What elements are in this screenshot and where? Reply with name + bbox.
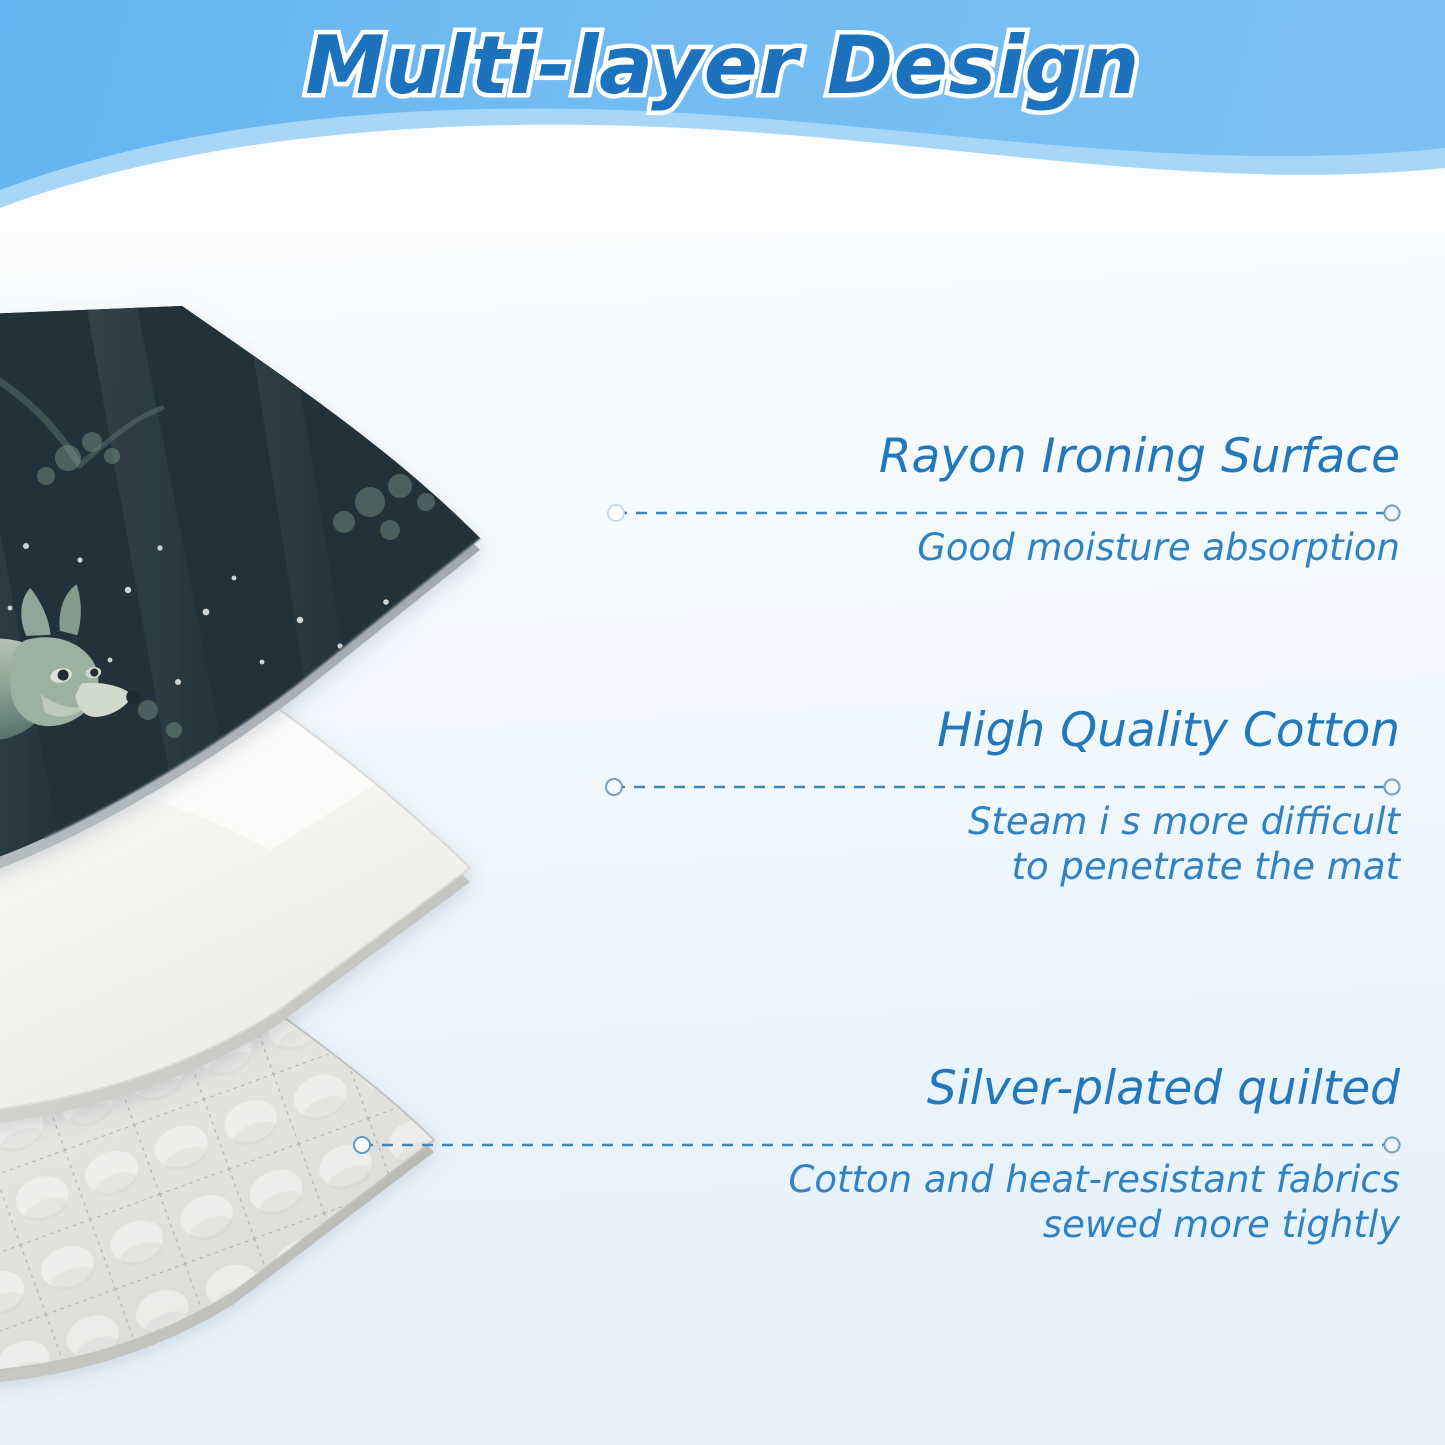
callout-1-subtitle-line-1: Good moisture absorption: [700, 525, 1400, 570]
product-layer-stack: [0, 290, 790, 1360]
callout-high-quality-cotton: High Quality Cotton Steam i s more diffi…: [700, 706, 1400, 890]
callout-2-heading: High Quality Cotton: [700, 706, 1400, 755]
infographic-page: Multi-layer Design: [0, 0, 1445, 1445]
header-wave-decoration: [0, 82, 1445, 232]
callout-3-subtitle-line-1: Cotton and heat-resistant fabrics: [686, 1157, 1400, 1202]
callout-2-subtitle-line-2: to penetrate the mat: [700, 844, 1400, 889]
callout-rayon-ironing-surface: Rayon Ironing Surface Good moisture abso…: [700, 432, 1400, 570]
callout-3-heading: Silver-plated quilted: [686, 1064, 1400, 1113]
header-banner: Multi-layer Design: [0, 0, 1445, 232]
callout-silver-plated-quilted: Silver-plated quilted Cotton and heat-re…: [686, 1064, 1400, 1248]
callout-2-subtitle-line-1: Steam i s more difficult: [700, 799, 1400, 844]
callout-1-heading: Rayon Ironing Surface: [700, 432, 1400, 481]
callout-3-subtitle-line-2: sewed more tightly: [686, 1202, 1400, 1247]
